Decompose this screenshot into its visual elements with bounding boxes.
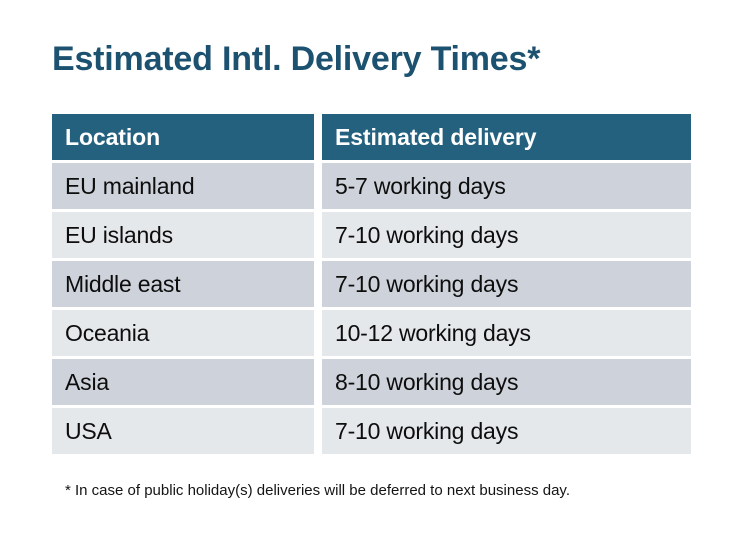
cell-estimated-delivery: 5-7 working days (322, 163, 691, 209)
cell-location: Asia (52, 359, 314, 405)
column-divider (314, 261, 322, 307)
page-title: Estimated Intl. Delivery Times* (52, 38, 540, 80)
cell-location: EU mainland (52, 163, 314, 209)
column-header-estimated-delivery: Estimated delivery (322, 114, 691, 160)
column-divider (314, 212, 322, 258)
column-divider (314, 310, 322, 356)
column-divider (314, 163, 322, 209)
footnote-text: * In case of public holiday(s) deliverie… (65, 481, 570, 501)
cell-estimated-delivery: 10-12 working days (322, 310, 691, 356)
cell-location: Middle east (52, 261, 314, 307)
cell-estimated-delivery: 7-10 working days (322, 212, 691, 258)
column-divider (314, 114, 322, 160)
column-divider (314, 359, 322, 405)
table-row: USA 7-10 working days (52, 408, 691, 454)
table-row: Oceania 10-12 working days (52, 310, 691, 356)
cell-location: EU islands (52, 212, 314, 258)
table-row: Asia 8-10 working days (52, 359, 691, 405)
cell-estimated-delivery: 7-10 working days (322, 261, 691, 307)
cell-estimated-delivery: 8-10 working days (322, 359, 691, 405)
column-header-location: Location (52, 114, 314, 160)
cell-location: USA (52, 408, 314, 454)
delivery-times-table: Location Estimated delivery EU mainland … (52, 114, 691, 457)
table-row: Middle east 7-10 working days (52, 261, 691, 307)
table-header-row: Location Estimated delivery (52, 114, 691, 160)
cell-estimated-delivery: 7-10 working days (322, 408, 691, 454)
table-row: EU islands 7-10 working days (52, 212, 691, 258)
table-row: EU mainland 5-7 working days (52, 163, 691, 209)
delivery-times-page: Estimated Intl. Delivery Times* Location… (0, 0, 745, 536)
column-divider (314, 408, 322, 454)
cell-location: Oceania (52, 310, 314, 356)
